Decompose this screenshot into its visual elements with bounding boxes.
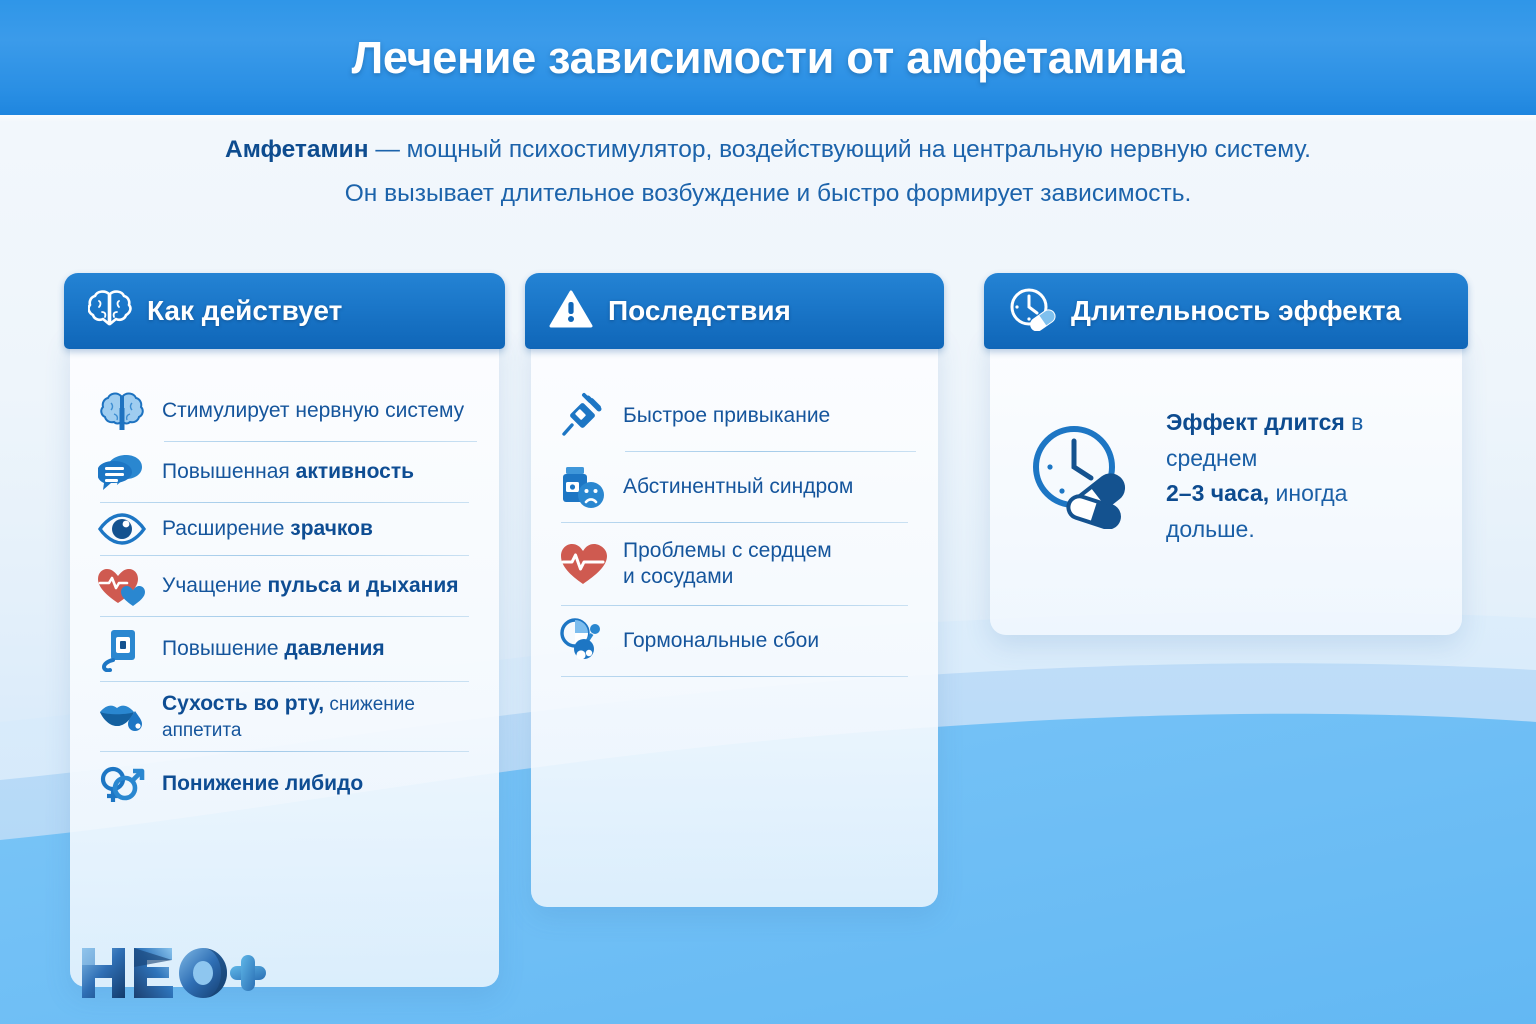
list-item-label: Расширение зрачков xyxy=(162,516,373,542)
card-how-header: Как действует xyxy=(64,273,505,349)
list-item[interactable]: Гормональные сбои xyxy=(553,606,916,676)
card-title: Длительность эффекта xyxy=(1071,295,1401,327)
intro-keyword: Амфетамин xyxy=(225,136,369,163)
list-item[interactable]: Учащение пульса и дыхания xyxy=(92,556,477,616)
list-item[interactable]: Проблемы с сердцем и сосудами xyxy=(553,523,916,605)
intro-line-2: Он вызывает длительное возбуждение и быс… xyxy=(0,172,1536,216)
intro-line-1: Амфетамин — мощный психостимулятор, возд… xyxy=(0,128,1536,172)
warning-triangle-icon xyxy=(549,289,593,334)
list-item[interactable]: Повышение давления xyxy=(92,617,477,681)
list-item[interactable]: Сухость во рту, снижение аппетита xyxy=(92,682,477,751)
pill-bottle-sad-face-icon xyxy=(557,463,609,511)
card-how-it-works: Стимулирует нервную систему xyxy=(64,273,505,349)
clock-capsules-icon xyxy=(1024,419,1140,534)
heartbeat-hearts-icon xyxy=(96,565,148,607)
divider xyxy=(100,555,469,556)
duration-line1-bold: Эффект длится xyxy=(1166,409,1345,435)
divider xyxy=(561,605,908,606)
card-title: Как действует xyxy=(147,295,342,327)
neo-plus-logo xyxy=(78,942,268,1009)
duration-content: Эффект длится в среднем 2–3 часа, иногда… xyxy=(990,335,1462,548)
divider xyxy=(100,502,469,503)
divider xyxy=(561,676,908,677)
blood-pressure-monitor-icon xyxy=(96,626,148,672)
page-header: Лечение зависимости от амфетамина xyxy=(0,0,1536,115)
list-item[interactable]: Расширение зрачков xyxy=(92,503,477,555)
list-item-label: Гормональные сбои xyxy=(623,628,819,654)
list-item[interactable]: Быстрое привыкание xyxy=(553,381,916,451)
duration-text: Эффект длится в среднем 2–3 часа, иногда… xyxy=(1166,405,1428,548)
divider xyxy=(164,441,477,442)
divider xyxy=(100,681,469,682)
list-item[interactable]: Абстинентный синдром xyxy=(553,452,916,522)
intro-line-1-rest: — мощный психостимулятор, воздействующий… xyxy=(369,136,1311,163)
infographic-canvas: Лечение зависимости от амфетамина Амфета… xyxy=(0,0,1536,1024)
list-item-label: Быстрое привыкание xyxy=(623,403,830,429)
divider xyxy=(100,751,469,752)
list-item-label: Стимулирует нервную систему xyxy=(162,398,464,424)
card-how-body: Стимулирует нервную систему xyxy=(70,335,499,987)
list-item[interactable]: Повышенная активность xyxy=(92,442,477,502)
divider xyxy=(625,451,916,452)
card-consequences: Быстрое привыкание xyxy=(525,273,944,349)
duration-line2-bold: 2–3 часа, xyxy=(1166,480,1269,506)
list-item-label: Понижение либидо xyxy=(162,771,363,797)
brain-icon xyxy=(88,290,132,333)
list-item-label: Сухость во рту, снижение аппетита xyxy=(162,691,473,742)
list-item-label: Учащение пульса и дыхания xyxy=(162,573,459,599)
card-consequences-body: Быстрое привыкание xyxy=(531,335,938,907)
card-duration: Эффект длится в среднем 2–3 часа, иногда… xyxy=(984,273,1468,349)
list-item-label: Повышение давления xyxy=(162,636,385,662)
syringe-icon xyxy=(557,392,609,440)
card-duration-header: Длительность эффекта xyxy=(984,273,1468,349)
hormone-molecule-icon xyxy=(557,617,609,665)
heart-pulse-icon xyxy=(557,542,609,586)
list-item-label: Проблемы с сердцем и сосудами xyxy=(623,538,832,589)
list-item-label: Абстинентный синдром xyxy=(623,474,853,500)
gender-symbols-icon xyxy=(96,761,148,807)
list-item[interactable]: Стимулирует нервную систему xyxy=(92,381,477,441)
page-title: Лечение зависимости от амфетамина xyxy=(352,32,1185,84)
card-consequences-header: Последствия xyxy=(525,273,944,349)
card-how-list: Стимулирует нервную систему xyxy=(70,381,499,816)
card-consequences-list: Быстрое привыкание xyxy=(531,381,938,677)
lips-droplet-icon xyxy=(96,697,148,737)
list-item-label: Повышенная активность xyxy=(162,459,414,485)
divider xyxy=(561,522,908,523)
list-item[interactable]: Понижение либидо xyxy=(92,752,477,816)
cards-row: Стимулирует нервную систему xyxy=(0,273,1536,953)
brain-icon xyxy=(96,390,148,432)
card-duration-body: Эффект длится в среднем 2–3 часа, иногда… xyxy=(990,335,1462,635)
card-title: Последствия xyxy=(608,295,791,327)
divider xyxy=(100,616,469,617)
intro-block: Амфетамин — мощный психостимулятор, возд… xyxy=(0,128,1536,215)
speech-bubbles-icon xyxy=(96,451,148,493)
eye-icon xyxy=(96,512,148,546)
clock-pills-icon xyxy=(1008,287,1056,336)
